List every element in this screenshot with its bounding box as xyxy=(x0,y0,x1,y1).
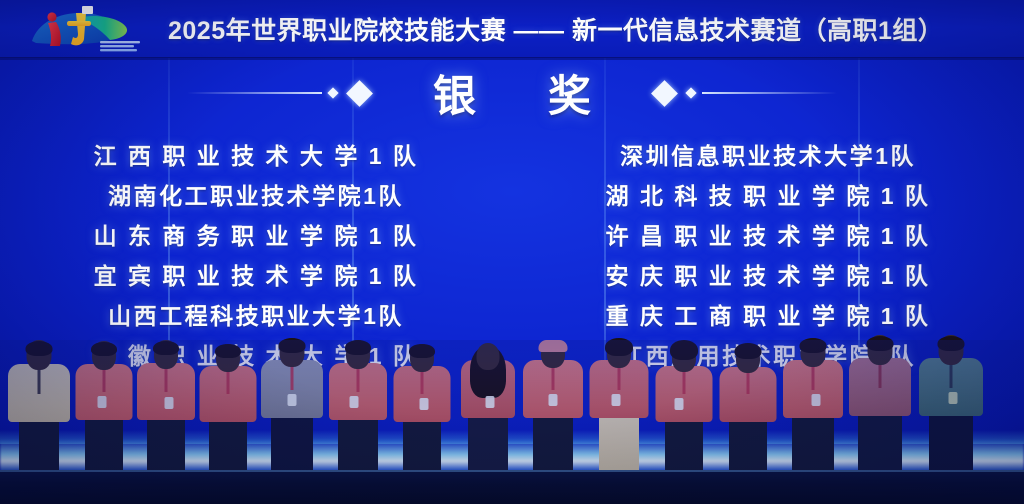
person-hair xyxy=(91,342,117,356)
competition-title: 2025年世界职业院校技能大赛 —— 新一代信息技术赛道（高职1组） xyxy=(168,11,943,47)
person-lanyard xyxy=(747,371,750,394)
team-row: 湖南化工职业技术学院1队 xyxy=(0,174,512,214)
team-name: 山 东 商 务 职 业 学 院 1 队 xyxy=(94,217,419,251)
team-name: 江 西 职 业 技 术 大 学 1 队 xyxy=(94,137,419,171)
person xyxy=(586,350,652,482)
person-hair xyxy=(26,341,53,356)
person-hair xyxy=(215,344,241,358)
team-row: 安 庆 职 业 技 术 学 院 1 队 xyxy=(512,254,1024,294)
stage-floor xyxy=(0,470,1024,504)
team-name: 山西工程科技职业大学1队 xyxy=(108,297,404,331)
person-lanyard xyxy=(357,368,360,392)
right-diamond-decoration xyxy=(649,84,837,103)
team-name: 重 庆 工 商 职 业 学 院 1 队 xyxy=(606,297,931,331)
person xyxy=(846,348,914,482)
team-row: 江 西 职 业 技 术 大 学 1 队 xyxy=(0,134,512,174)
person-badge xyxy=(549,394,558,406)
person-lanyard xyxy=(165,368,168,392)
person-badge xyxy=(675,398,684,410)
team-row: 宜 宾 职 业 技 术 学 院 1 队 xyxy=(0,254,512,294)
person-lanyard xyxy=(103,368,106,392)
team-name: 湖 北 科 技 职 业 学 院 1 队 xyxy=(606,177,931,211)
person-hair xyxy=(605,338,633,356)
person-badge xyxy=(612,394,621,406)
large-diamond-icon xyxy=(651,80,678,107)
team-row: 重 庆 工 商 职 业 学 院 1 队 xyxy=(512,294,1024,334)
person-lanyard xyxy=(683,370,686,394)
person-hair xyxy=(153,341,179,355)
team-name: 深圳信息职业技术大学1队 xyxy=(620,137,916,171)
person xyxy=(4,354,74,482)
wsc-it-logo-icon xyxy=(26,1,144,57)
left-diamond-decoration xyxy=(187,84,375,103)
person xyxy=(652,354,716,482)
header-bar: 2025年世界职业院校技能大赛 —— 新一代信息技术赛道（高职1组） xyxy=(0,0,1024,58)
person-lanyard xyxy=(812,365,815,390)
person-hair xyxy=(867,336,894,351)
person xyxy=(716,354,780,482)
person-lanyard xyxy=(618,365,621,390)
team-row: 深圳信息职业技术大学1队 xyxy=(512,134,1024,174)
team-row: 湖 北 科 技 职 业 学 院 1 队 xyxy=(512,174,1024,214)
person-badge xyxy=(420,398,429,410)
person-head xyxy=(477,343,500,370)
person-lanyard xyxy=(421,370,424,394)
team-name: 湖南化工职业技术学院1队 xyxy=(108,177,404,211)
person-hair xyxy=(800,338,827,353)
team-name: 许 昌 职 业 技 术 学 院 1 队 xyxy=(606,217,931,251)
person-lanyard xyxy=(38,368,41,394)
person-badge xyxy=(288,394,297,406)
person xyxy=(196,354,260,482)
person-hair xyxy=(345,340,371,355)
person-hair xyxy=(409,344,435,358)
person-lanyard xyxy=(552,365,555,390)
person-badge xyxy=(812,394,821,406)
person-hair xyxy=(670,340,698,360)
person-lanyard xyxy=(291,365,294,390)
deco-line xyxy=(187,92,322,94)
team-name: 宜 宾 职 业 技 术 学 院 1 队 xyxy=(94,257,419,291)
person xyxy=(72,352,136,482)
person-lanyard xyxy=(879,362,882,388)
person-hair xyxy=(938,336,965,351)
person-lanyard xyxy=(227,371,230,394)
team-row: 山 东 商 务 职 业 学 院 1 队 xyxy=(0,214,512,254)
person xyxy=(326,352,390,482)
deco-line xyxy=(702,92,837,94)
person xyxy=(134,352,198,482)
team-row: 许 昌 职 业 技 术 学 院 1 队 xyxy=(512,214,1024,254)
person-badge xyxy=(350,396,359,408)
award-title-row: 银 奖 xyxy=(0,62,1024,124)
person xyxy=(520,350,586,482)
person xyxy=(390,354,454,482)
team-name: 安 庆 职 业 技 术 学 院 1 队 xyxy=(606,257,931,291)
person-cap-icon xyxy=(539,340,568,352)
small-diamond-icon xyxy=(327,87,338,98)
small-diamond-icon xyxy=(685,87,696,98)
person xyxy=(916,348,986,482)
person-hair xyxy=(279,338,306,353)
person xyxy=(780,350,846,482)
person-badge xyxy=(486,396,495,408)
person-badge xyxy=(98,396,107,408)
award-ceremony-screen: 2025年世界职业院校技能大赛 —— 新一代信息技术赛道（高职1组） 银 奖 江… xyxy=(0,0,1024,504)
person-badge xyxy=(949,392,958,404)
person-badge xyxy=(165,397,174,409)
team-row: 山西工程科技职业大学1队 xyxy=(0,294,512,334)
award-recipients-group xyxy=(0,352,1024,482)
person xyxy=(258,350,326,482)
award-level-title: 银 奖 xyxy=(403,62,621,124)
person-hair xyxy=(735,343,762,359)
large-diamond-icon xyxy=(346,80,373,107)
person-lanyard xyxy=(950,362,953,388)
person xyxy=(456,350,520,482)
